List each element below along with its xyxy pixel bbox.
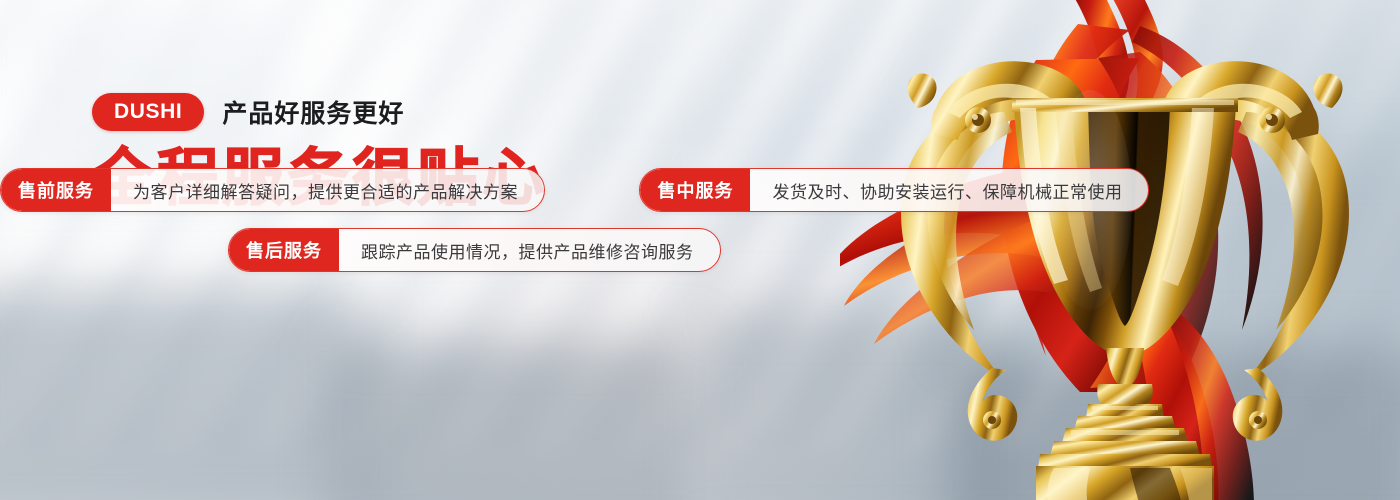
service-body: 为客户详细解答疑问，提供更合适的产品解决方案 bbox=[111, 169, 544, 211]
service-tag: 售前服务 bbox=[1, 169, 111, 211]
service-item-duringsale[interactable]: 售中服务 发货及时、协助安装运行、保障机械正常使用 bbox=[639, 168, 1149, 212]
service-promo-banner: DUSHI 产品好服务更好 全程服务很贴心 售前服务 为客户详细解答疑问，提供更… bbox=[0, 0, 1400, 500]
service-tag-label: 售后服务 bbox=[246, 237, 322, 263]
service-body: 跟踪产品使用情况，提供产品维修咨询服务 bbox=[339, 229, 720, 271]
service-tag: 售后服务 bbox=[229, 229, 339, 271]
service-list: 售前服务 为客户详细解答疑问，提供更合适的产品解决方案 售中服务 发货及时、协助… bbox=[0, 152, 1400, 272]
service-tag-label: 售中服务 bbox=[657, 177, 733, 203]
brand-badge: DUSHI bbox=[92, 93, 204, 131]
service-description: 为客户详细解答疑问，提供更合适的产品解决方案 bbox=[133, 178, 518, 203]
service-tag-label: 售前服务 bbox=[18, 177, 94, 203]
brand-badge-label: DUSHI bbox=[114, 100, 182, 124]
service-description: 跟踪产品使用情况，提供产品维修咨询服务 bbox=[361, 238, 694, 263]
service-tag: 售中服务 bbox=[640, 169, 750, 211]
service-description: 发货及时、协助安装运行、保障机械正常使用 bbox=[772, 178, 1122, 203]
service-body: 发货及时、协助安装运行、保障机械正常使用 bbox=[750, 169, 1148, 211]
eyebrow-text: 产品好服务更好 bbox=[222, 94, 404, 130]
service-item-aftersale[interactable]: 售后服务 跟踪产品使用情况，提供产品维修咨询服务 bbox=[228, 228, 721, 272]
service-item-presale[interactable]: 售前服务 为客户详细解答疑问，提供更合适的产品解决方案 bbox=[0, 168, 545, 212]
eyebrow-row: DUSHI 产品好服务更好 bbox=[92, 92, 547, 132]
